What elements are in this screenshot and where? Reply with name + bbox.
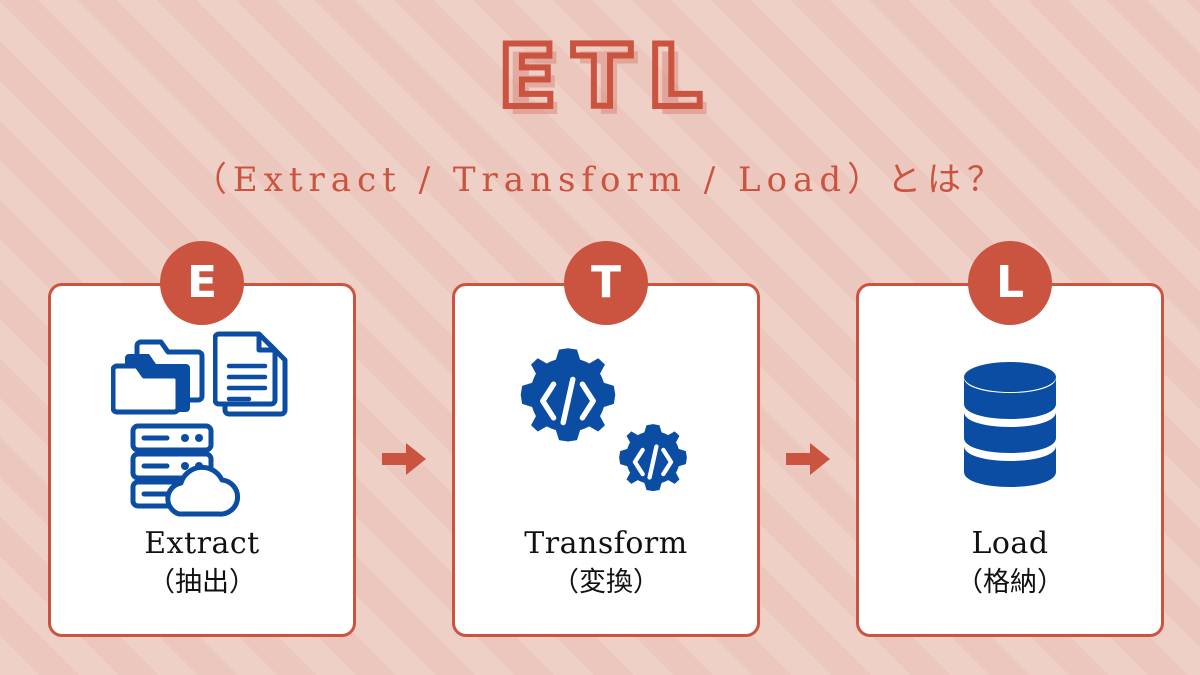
load-icon-group (859, 316, 1161, 528)
page-subtitle: （Extract / Transform / Load）とは？ (0, 152, 1200, 201)
badge-letter-e: E (187, 261, 217, 305)
transform-label-ja: （変換） (455, 565, 757, 600)
transform-label-en: Transform (455, 525, 757, 563)
extract-label: Extract （抽出） (51, 525, 353, 600)
extract-label-ja: （抽出） (51, 565, 353, 600)
badge-letter-t: T (591, 261, 621, 305)
arrow-extract-to-transform (382, 442, 426, 476)
step-card-load[interactable]: Load （格納） (856, 283, 1164, 637)
step-badge-transform: T (564, 241, 648, 325)
arrow-transform-to-load (786, 442, 830, 476)
load-label: Load （格納） (859, 525, 1161, 600)
page-title: ETL (482, 34, 718, 120)
gear-code-small-icon (610, 419, 696, 505)
server-cloud-icon (127, 420, 245, 520)
transform-icon-group (455, 316, 757, 528)
database-icon (958, 356, 1062, 488)
title-container: ETL (0, 34, 1200, 134)
badge-letter-l: L (996, 261, 1024, 305)
extract-label-en: Extract (51, 525, 353, 563)
extract-icon-group (51, 316, 353, 528)
etl-diagram-canvas: ETL （Extract / Transform / Load）とは？ (0, 0, 1200, 675)
step-card-extract[interactable]: Extract （抽出） (48, 283, 356, 637)
documents-icon (213, 328, 293, 422)
load-label-en: Load (859, 525, 1161, 563)
step-badge-load: L (968, 241, 1052, 325)
step-badge-extract: E (160, 241, 244, 325)
transform-label: Transform （変換） (455, 525, 757, 600)
folders-icon (111, 332, 207, 416)
step-card-transform[interactable]: Transform （変換） (452, 283, 760, 637)
load-label-ja: （格納） (859, 565, 1161, 600)
